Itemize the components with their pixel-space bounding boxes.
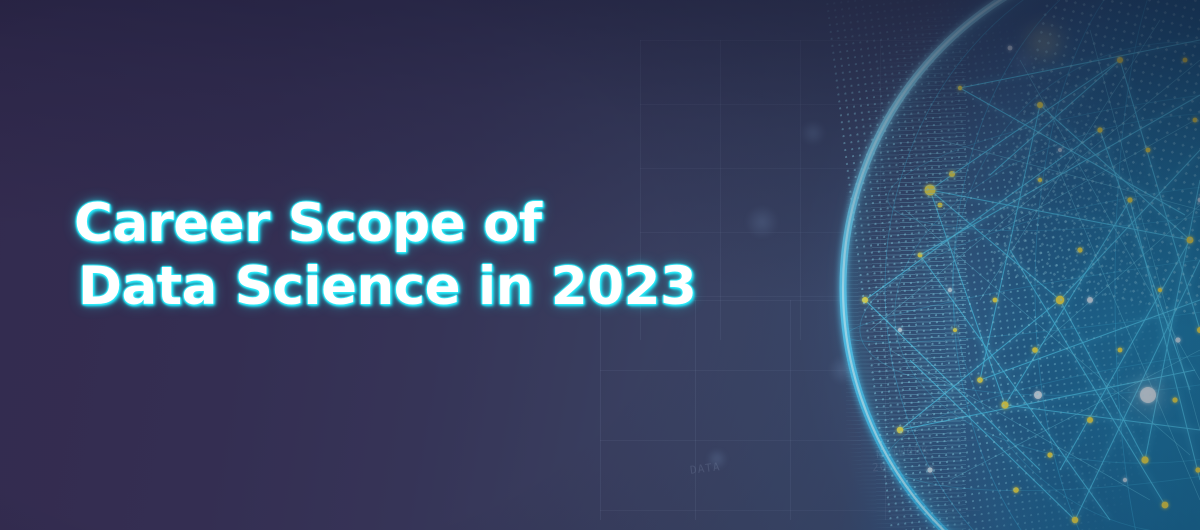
banner-title: Career Scope of Data Science in 2023 [74,192,696,318]
title-line-1: Career Scope of [74,192,696,255]
banner: DATA NETWORK 2023 [0,0,1200,530]
title-line-2: Data Science in 2023 [78,255,696,318]
